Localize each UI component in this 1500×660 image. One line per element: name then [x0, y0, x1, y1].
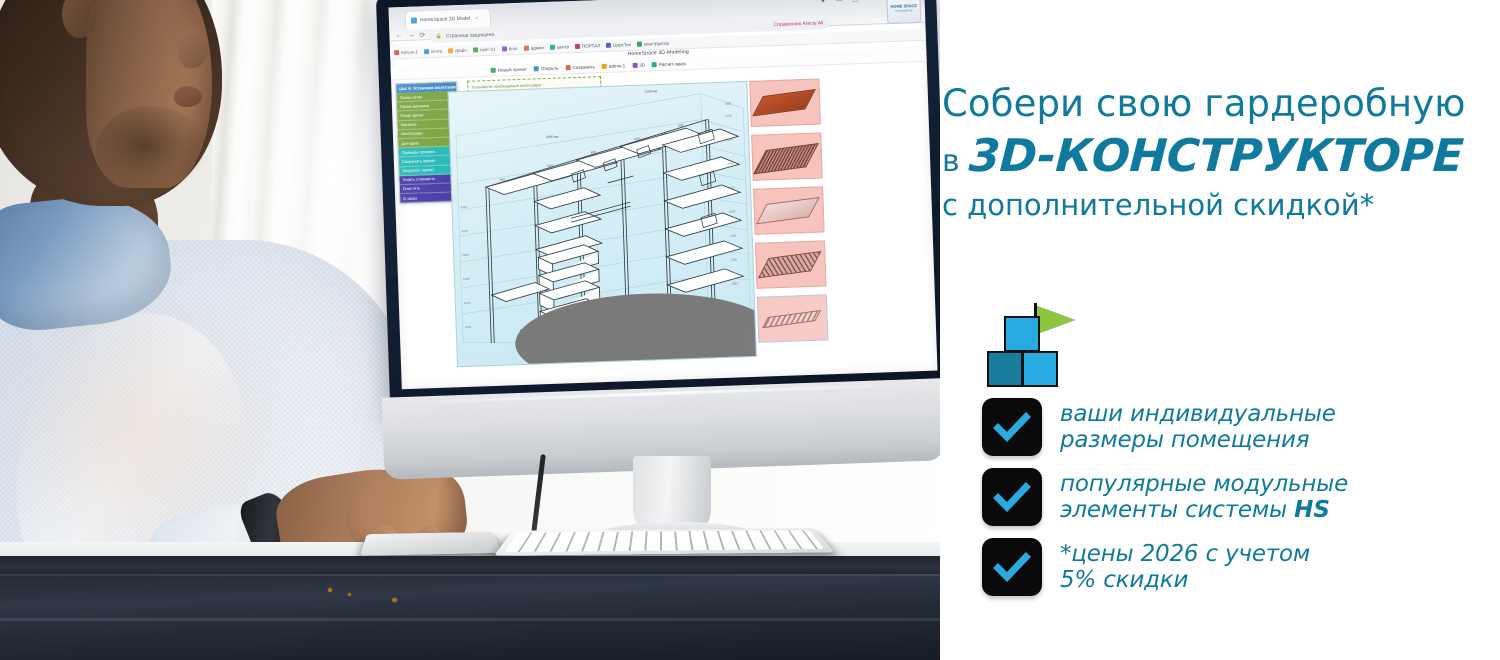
- tab-close-icon[interactable]: ×: [475, 15, 478, 21]
- 3d-viewport[interactable]: 1200 мм 4850 мм: [447, 81, 756, 367]
- benefit-hs-mark: HS: [1294, 497, 1330, 523]
- benefit-line-2: элементы системы HS: [1060, 497, 1348, 523]
- toolbar-button-icon: [632, 62, 637, 67]
- svg-text:2400: 2400: [725, 114, 732, 118]
- window-maximize-icon[interactable]: ▢: [850, 0, 859, 5]
- benefit-text: ваши индивидуальныеразмеры помещения: [1060, 401, 1336, 453]
- promo-content: Собери свою гардеробную в 3D-КОНСТРУКТОР…: [930, 0, 1500, 660]
- browser-profile-icon[interactable]: ●: [818, 0, 827, 6]
- lock-icon: 🔒: [435, 33, 441, 39]
- product-thumbnail[interactable]: [751, 132, 823, 180]
- benefit-line-1: ваши индивидуальные: [1060, 401, 1336, 427]
- svg-text:600: 600: [591, 150, 597, 154]
- bookmark-item[interactable]: файл: [448, 48, 467, 54]
- bookmark-item[interactable]: ЦорсТех: [606, 42, 631, 48]
- bookmark-item[interactable]: конструктор: [637, 41, 669, 47]
- svg-text:1000: 1000: [731, 281, 738, 285]
- bookmark-favicon-icon: [550, 45, 555, 50]
- bookmark-favicon-icon: [606, 43, 611, 48]
- toolbar-button[interactable]: 3D: [632, 62, 645, 67]
- person-lips: [174, 86, 202, 107]
- bookmark-label: почта: [431, 49, 443, 54]
- product-thumbnail[interactable]: [749, 78, 821, 126]
- product-mesh-icon: [758, 251, 822, 278]
- headline-line-1: Собери свою гардеробную: [942, 84, 1498, 124]
- building-blocks-logo: [987, 305, 1087, 395]
- checkmark-icon: [982, 538, 1042, 596]
- block-bottom-right: [1022, 351, 1058, 387]
- product-shoe-icon: [762, 310, 821, 328]
- svg-text:1600: 1600: [464, 301, 471, 305]
- badge-subtitle: Конструктор: [895, 9, 912, 13]
- toolbar-button[interactable]: Новый проект: [491, 66, 527, 72]
- product-tray-icon: [756, 197, 820, 224]
- svg-text:2200: 2200: [461, 229, 468, 233]
- svg-text:600: 600: [634, 137, 640, 141]
- bookmark-label: центр: [557, 44, 569, 49]
- toolbar-button-label: Новый проект: [498, 66, 527, 72]
- svg-text:1600: 1600: [729, 209, 736, 213]
- toolbar-button[interactable]: Сохранить: [565, 64, 595, 70]
- desk-speck: [392, 598, 397, 602]
- svg-text:2200: 2200: [726, 138, 733, 142]
- block-bottom-left: [987, 351, 1023, 387]
- benefit-text: популярные модульныеэлементы системы HS: [1060, 471, 1348, 523]
- benefit-item: ваши индивидуальныеразмеры помещения: [982, 398, 1482, 456]
- bookmark-item[interactable]: админ: [524, 45, 544, 51]
- bookmark-item[interactable]: ярлык-1: [394, 49, 418, 55]
- svg-text:1800: 1800: [728, 185, 735, 189]
- headline-prefix: в: [942, 144, 960, 179]
- desk-speck: [348, 593, 351, 596]
- homespace-logo-badge: HOME SPACE Конструктор: [886, 0, 921, 24]
- bookmark-label: конструктор: [644, 41, 669, 47]
- jaw-shadow: [96, 106, 206, 194]
- bookmark-item[interactable]: центр: [550, 44, 569, 50]
- person-nose: [178, 28, 208, 68]
- bookmark-favicon-icon: [473, 47, 478, 52]
- headline-line-2: в 3D-КОНСТРУКТОРЕ: [942, 129, 1498, 182]
- checkmark-icon: [982, 398, 1042, 456]
- product-basket-icon: [753, 143, 819, 174]
- benefit-text: *цены 2026 с учетом5% скидки: [1060, 541, 1310, 593]
- keyboard-keys: [504, 530, 824, 552]
- toolbar-button-label: Сохранить: [572, 64, 595, 70]
- svg-text:600: 600: [725, 102, 731, 106]
- bookmark-label: ЦорсТех: [613, 42, 631, 48]
- desk-wood-grain: [0, 574, 940, 660]
- benefit-line-2: 5% скидки: [1060, 567, 1310, 593]
- bookmark-label: ярлык-1: [401, 49, 418, 55]
- imac-monitor: HomeSpace 3D Model × ● — ▢ × ← → ⟳ 🔒 Стр…: [383, 0, 940, 486]
- bookmark-label: блог: [508, 46, 517, 51]
- bookmark-favicon-icon: [524, 46, 529, 51]
- keyboard[interactable]: [494, 528, 835, 555]
- svg-text:600: 600: [547, 164, 553, 168]
- bookmark-label: сайт-01: [480, 47, 496, 53]
- product-thumbnail-panel[interactable]: [749, 78, 832, 350]
- bookmark-item[interactable]: ПОРТАЛ: [575, 43, 600, 49]
- bookmark-item[interactable]: блог: [501, 46, 517, 52]
- bookmark-item[interactable]: сайт-01: [473, 47, 496, 53]
- toolbar-button-icon: [652, 62, 657, 67]
- svg-text:600: 600: [500, 177, 506, 181]
- headline-block: Собери свою гардеробную в 3D-КОНСТРУКТОР…: [942, 84, 1498, 222]
- monitor-screen[interactable]: HomeSpace 3D Model × ● — ▢ × ← → ⟳ 🔒 Стр…: [388, 0, 937, 389]
- benefit-line-1: популярные модульные: [1060, 471, 1348, 497]
- trackpad[interactable]: [360, 532, 503, 556]
- bookmark-label: файл: [455, 48, 467, 53]
- toolbar-button-label: 3D: [639, 62, 645, 67]
- toolbar-button-icon: [565, 65, 570, 70]
- bookmark-label: админ: [531, 45, 544, 50]
- reload-icon[interactable]: ⟳: [419, 31, 425, 39]
- benefits-list: ваши индивидуальныеразмеры помещенияпопу…: [982, 398, 1482, 608]
- bookmark-favicon-icon: [424, 49, 429, 54]
- browser-tab[interactable]: HomeSpace 3D Model ×: [405, 8, 492, 30]
- block-top: [1004, 316, 1040, 352]
- url-text: Страница защищена: [446, 31, 495, 39]
- svg-text:1400: 1400: [730, 233, 737, 237]
- svg-text:600: 600: [678, 123, 684, 127]
- window-close-icon[interactable]: ×: [866, 0, 875, 5]
- toolbar-button-label: admin-1: [609, 63, 625, 69]
- product-wood-icon: [752, 89, 816, 116]
- toolbar-button[interactable]: admin-1: [602, 63, 625, 69]
- bookmark-favicon-icon: [637, 42, 642, 47]
- headline-line-3: с дополнительной скидкой*: [942, 190, 1498, 222]
- toolbar-button-icon: [491, 67, 496, 72]
- tab-title: HomeSpace 3D Model: [420, 16, 470, 24]
- toolbar-button[interactable]: Открыть: [534, 65, 559, 71]
- benefit-line-1: *цены 2026 с учетом: [1060, 541, 1310, 567]
- product-thumbnail[interactable]: [757, 294, 829, 342]
- flag-icon: [1037, 306, 1075, 334]
- bookmark-favicon-icon: [394, 50, 399, 55]
- toolbar-button-icon: [534, 66, 539, 71]
- svg-text:2400: 2400: [460, 205, 467, 209]
- window-minimize-icon[interactable]: —: [834, 0, 843, 6]
- photo-scene: HomeSpace 3D Model × ● — ▢ × ← → ⟳ 🔒 Стр…: [0, 0, 940, 660]
- svg-text:1400: 1400: [465, 325, 472, 329]
- headline-emphasis: 3D-КОНСТРУКТОРЕ: [967, 129, 1464, 182]
- bookmark-favicon-icon: [575, 44, 580, 49]
- promo-banner: HomeSpace 3D Model × ● — ▢ × ← → ⟳ 🔒 Стр…: [0, 0, 1500, 660]
- benefit-item: *цены 2026 с учетом5% скидки: [982, 538, 1482, 596]
- url-site-label: Справочник Arecty All: [773, 20, 823, 28]
- benefit-item: популярные модульныеэлементы системы HS: [982, 468, 1482, 526]
- svg-text:1200: 1200: [730, 257, 737, 261]
- toolbar-button-label: Расчет-заказ: [659, 61, 686, 67]
- svg-text:2000: 2000: [462, 253, 469, 257]
- svg-text:2000: 2000: [727, 162, 734, 166]
- toolbar-button-icon: [602, 63, 607, 68]
- bookmark-favicon-icon: [448, 48, 453, 53]
- tab-favicon: [411, 17, 417, 23]
- svg-text:1800: 1800: [463, 277, 470, 281]
- toolbar-button-label: Открыть: [541, 65, 559, 71]
- forward-icon[interactable]: →: [407, 32, 414, 39]
- back-icon[interactable]: ←: [395, 32, 402, 39]
- desk-speck: [328, 588, 332, 592]
- bookmark-label: ПОРТАЛ: [582, 43, 600, 49]
- benefit-line-2: размеры помещения: [1060, 427, 1336, 453]
- product-thumbnail[interactable]: [755, 240, 827, 288]
- toolbar-button[interactable]: Расчет-заказ: [652, 61, 686, 67]
- bookmark-item[interactable]: почта: [424, 49, 443, 55]
- product-thumbnail[interactable]: [753, 186, 825, 234]
- checkmark-icon: [982, 468, 1042, 526]
- bookmark-favicon-icon: [501, 46, 506, 51]
